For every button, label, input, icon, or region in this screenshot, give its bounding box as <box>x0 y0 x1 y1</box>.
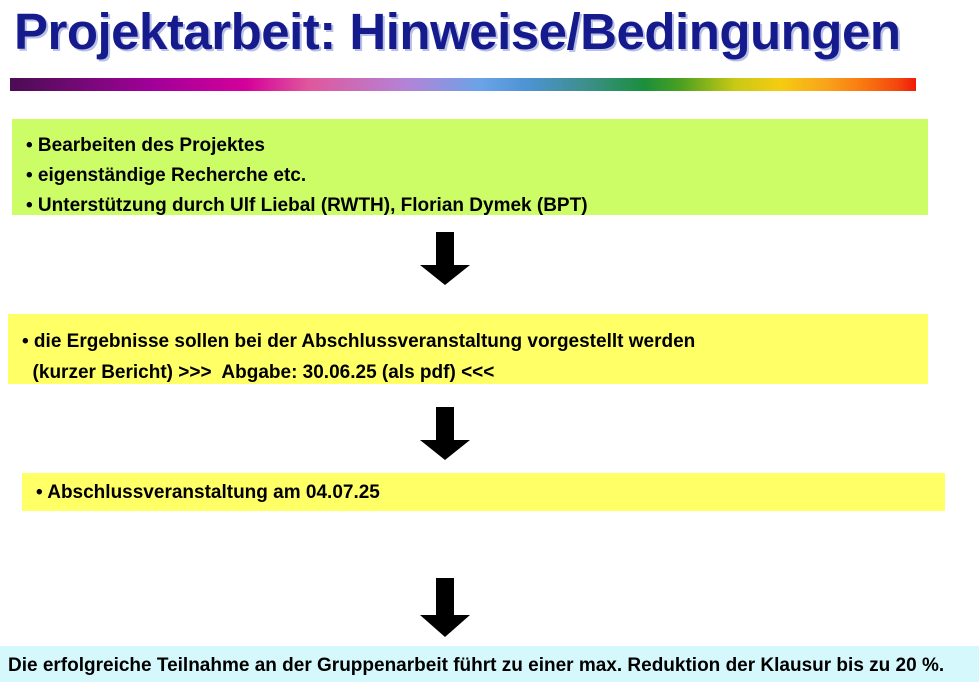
rainbow-divider <box>10 78 916 91</box>
page-title: Projektarbeit: Hinweise/Bedingungen <box>14 2 964 64</box>
list-item: • die Ergebnisse sollen bei der Abschlus… <box>22 326 928 357</box>
cyan-summary-banner: Die erfolgreiche Teilnahme an der Gruppe… <box>0 646 979 682</box>
arrow-down-icon <box>419 232 471 286</box>
list-item: • Unterstützung durch Ulf Liebal (RWTH),… <box>26 191 928 221</box>
list-item: • Bearbeiten des Projektes <box>26 131 928 161</box>
slide-canvas: Projektarbeit: Hinweise/Bedingungen • Be… <box>0 0 979 682</box>
list-item: • Abschlussveranstaltung am 04.07.25 <box>36 481 945 505</box>
arrow-down-icon <box>419 578 471 638</box>
list-item: (kurzer Bericht) >>> Abgabe: 30.06.25 (a… <box>22 357 928 388</box>
yellow-event-box: • Abschlussveranstaltung am 04.07.25 <box>22 473 945 511</box>
yellow-report-box: • die Ergebnisse sollen bei der Abschlus… <box>8 314 928 384</box>
green-bullet-box: • Bearbeiten des Projektes • eigenständi… <box>12 119 928 215</box>
list-item: • eigenständige Recherche etc. <box>26 161 928 191</box>
banner-text: Die erfolgreiche Teilnahme an der Gruppe… <box>8 653 979 679</box>
arrow-down-icon <box>419 407 471 461</box>
